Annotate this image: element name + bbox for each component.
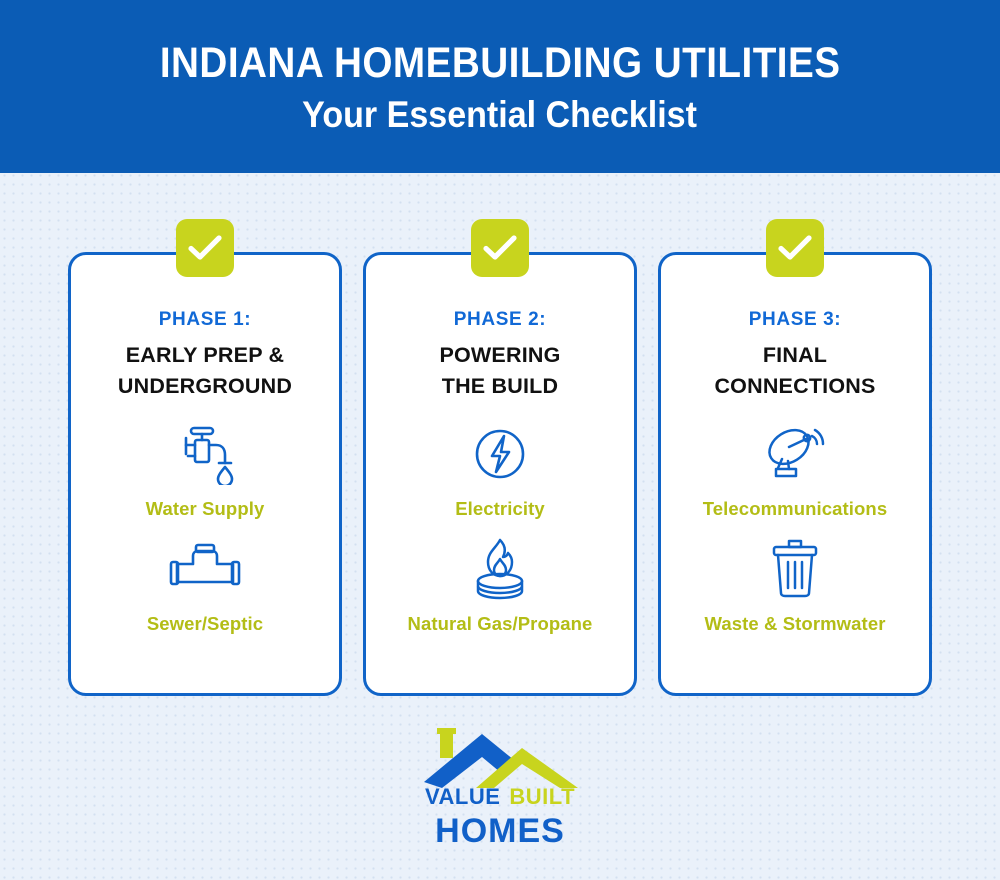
card-title-1: EARLY PREP & UNDERGROUND [110, 340, 300, 401]
card-title-3-line2: CONNECTIONS [714, 374, 875, 398]
phase-card-2[interactable]: PHASE 2: POWERING THE BUILD Electricity [363, 252, 637, 696]
satellite-dish-icon [758, 423, 832, 485]
card-title-2-line1: POWERING [439, 343, 560, 367]
utility-label-electricity: Electricity [455, 498, 545, 520]
page-subtitle: Your Essential Checklist [303, 93, 698, 137]
gas-flame-icon [464, 538, 536, 600]
phase-card-1[interactable]: PHASE 1: EARLY PREP & UNDERGROUND [68, 252, 342, 696]
faucet-icon [172, 423, 238, 485]
infographic-page: INDIANA HOMEBUILDING UTILITIES Your Esse… [0, 0, 1000, 880]
utility-label-telecommunications: Telecommunications [703, 498, 887, 520]
check-icon [188, 234, 222, 262]
logo-word-homes: HOMES [435, 812, 565, 851]
trash-bin-icon [766, 538, 824, 600]
check-badge-1 [176, 219, 234, 277]
phase-label-3: PHASE 3: [749, 309, 841, 331]
utility-item-telecommunications[interactable]: Telecommunications [703, 423, 887, 520]
phase-label-2: PHASE 2: [454, 309, 546, 331]
card-title-3-line1: FINAL [763, 343, 827, 367]
utility-label-sewer-septic: Sewer/Septic [147, 613, 263, 635]
card-title-1-line2: UNDERGROUND [118, 374, 292, 398]
check-icon [778, 234, 812, 262]
utility-label-waste-stormwater: Waste & Stormwater [704, 613, 885, 635]
logo-wordmark-top: VALUE BUILT [425, 784, 575, 810]
page-header: INDIANA HOMEBUILDING UTILITIES Your Esse… [0, 0, 1000, 173]
utility-item-electricity[interactable]: Electricity [455, 423, 545, 520]
utility-label-natural-gas: Natural Gas/Propane [408, 613, 593, 635]
card-title-1-line1: EARLY PREP & [126, 343, 285, 367]
phase-label-1: PHASE 1: [159, 309, 251, 331]
page-title: INDIANA HOMEBUILDING UTILITIES [160, 40, 841, 86]
logo-word-built: BUILT [509, 784, 575, 810]
utility-item-natural-gas[interactable]: Natural Gas/Propane [408, 538, 593, 635]
house-roof-logo [410, 726, 590, 788]
utility-item-sewer-septic[interactable]: Sewer/Septic [147, 538, 263, 635]
card-title-2-line2: THE BUILD [442, 374, 558, 398]
utility-item-waste-stormwater[interactable]: Waste & Stormwater [704, 538, 885, 635]
check-icon [483, 234, 517, 262]
logo-word-value: VALUE [425, 784, 500, 810]
phase-card-list: PHASE 1: EARLY PREP & UNDERGROUND [68, 252, 932, 696]
pipe-fitting-icon [167, 538, 243, 600]
utility-label-water-supply: Water Supply [146, 498, 265, 520]
card-title-3: FINAL CONNECTIONS [706, 340, 883, 401]
check-badge-3 [766, 219, 824, 277]
phase-card-3[interactable]: PHASE 3: FINAL CONNECTIONS [658, 252, 932, 696]
lightning-bolt-icon [471, 423, 529, 485]
card-title-2: POWERING THE BUILD [431, 340, 568, 401]
check-badge-2 [471, 219, 529, 277]
utility-item-water-supply[interactable]: Water Supply [146, 423, 265, 520]
brand-logo[interactable]: VALUE BUILT HOMES [0, 726, 1000, 851]
